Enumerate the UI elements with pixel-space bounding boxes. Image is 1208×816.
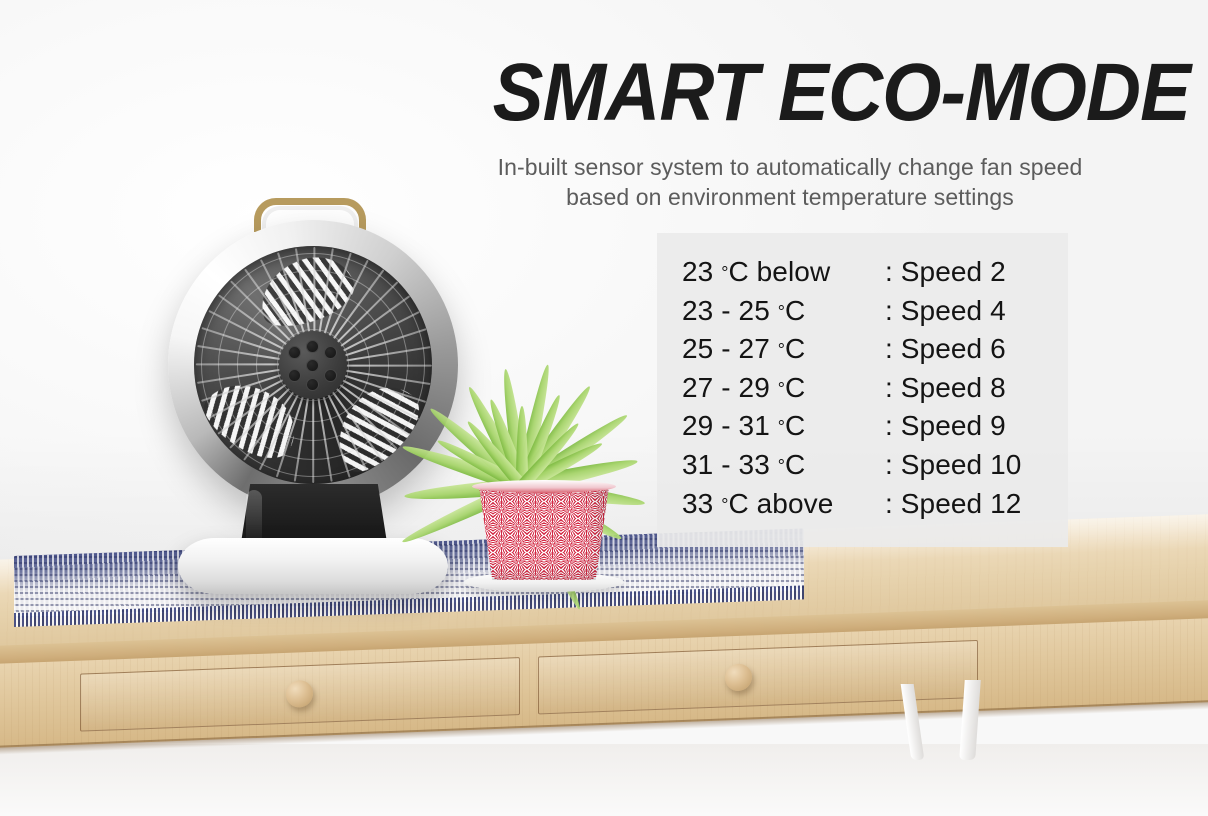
spec-fan-speed: : Speed 8 (885, 372, 1006, 404)
spec-temperature-range: 25 - 27 °C (682, 333, 885, 365)
hub-vent-hole (306, 340, 319, 353)
pot-rim (472, 480, 616, 493)
spec-fan-speed: : Speed 6 (885, 333, 1006, 365)
spec-fan-speed: : Speed 10 (885, 449, 1021, 481)
hub-vent-hole (306, 378, 319, 391)
spec-temperature-range: 27 - 29 °C (682, 372, 885, 404)
spec-fan-speed: : Speed 4 (885, 295, 1006, 327)
hub-vent-hole (324, 346, 337, 359)
spec-row: 33 °C above: Speed 12 (682, 488, 1062, 527)
spec-temperature-range: 33 °C above (682, 488, 885, 520)
spec-row: 23 - 25 °C: Speed 4 (682, 295, 1062, 334)
spider-plant (372, 356, 702, 594)
spec-fan-speed: : Speed 9 (885, 410, 1006, 442)
subtitle-line-2: based on environment temperature setting… (440, 182, 1140, 212)
hub-vent-hole (306, 359, 319, 372)
product-marketing-image: 23 °C below: Speed 223 - 25 °C: Speed 42… (0, 0, 1208, 816)
spec-fan-speed: : Speed 12 (885, 488, 1021, 520)
spec-fan-speed: : Speed 2 (885, 256, 1006, 288)
page-title: SMART ECO-MODE (83, 52, 1190, 134)
subtitle-line-1: In-built sensor system to automatically … (440, 152, 1140, 182)
spec-temperature-range: 23 °C below (682, 256, 885, 288)
fan-hub (279, 331, 347, 399)
spec-temperature-range: 31 - 33 °C (682, 449, 885, 481)
spec-row: 23 °C below: Speed 2 (682, 256, 1062, 295)
spec-temperature-range: 29 - 31 °C (682, 410, 885, 442)
spec-row: 29 - 31 °C: Speed 9 (682, 410, 1062, 449)
temperature-speed-table: 23 °C below: Speed 223 - 25 °C: Speed 42… (682, 256, 1062, 526)
hub-vent-hole (288, 369, 301, 382)
spec-row: 25 - 27 °C: Speed 6 (682, 333, 1062, 372)
spec-row: 27 - 29 °C: Speed 8 (682, 372, 1062, 411)
hub-vent-hole (288, 346, 301, 359)
page-subtitle: In-built sensor system to automatically … (440, 152, 1140, 213)
spec-temperature-range: 23 - 25 °C (682, 295, 885, 327)
spec-row: 31 - 33 °C: Speed 10 (682, 449, 1062, 488)
hub-vent-hole (324, 369, 337, 382)
patterned-ceramic-pot (476, 484, 612, 580)
